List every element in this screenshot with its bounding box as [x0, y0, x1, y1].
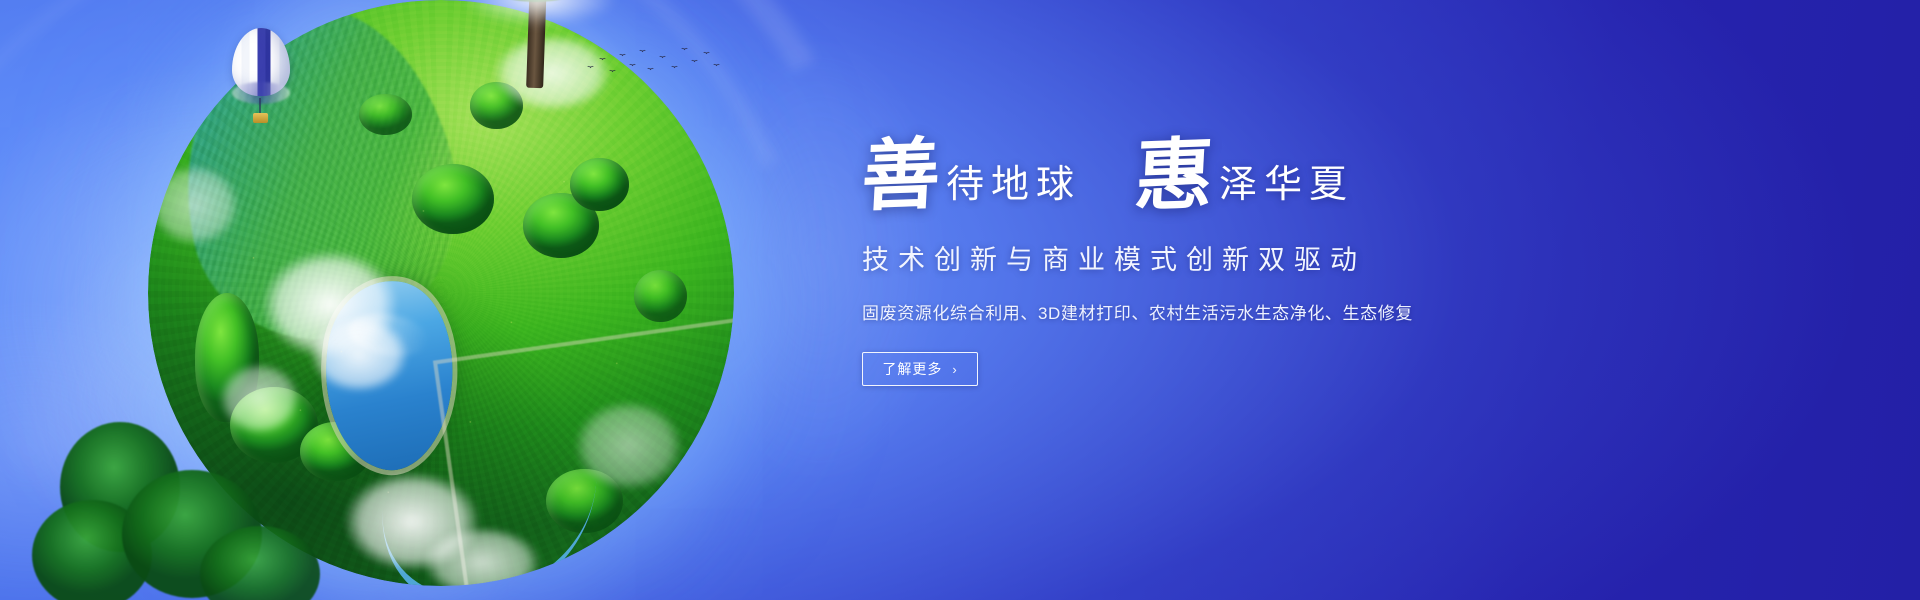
bird-icon [703, 52, 710, 56]
bird-icon [639, 50, 646, 54]
bird-icon [629, 64, 636, 68]
chevron-right-icon: › [952, 363, 957, 376]
headline-lead-char-2: 惠 [1133, 139, 1215, 213]
bird-icon [691, 60, 698, 64]
globe-cloud [207, 352, 312, 446]
headline-rest-1: 待地球 [946, 166, 1081, 212]
hot-air-balloon [232, 28, 290, 124]
bird-icon [659, 56, 666, 60]
tree-mist [434, 0, 644, 36]
hero-content: 善 待地球 惠 泽华夏 技术创新与商业模式创新双驱动 固废资源化综合利用、3D建… [862, 120, 1622, 386]
headline-lead-char-1: 善 [860, 139, 942, 213]
headline: 善 待地球 惠 泽华夏 [862, 120, 1622, 212]
headline-rest-2: 泽华夏 [1219, 166, 1354, 212]
bird-icon [587, 66, 594, 70]
learn-more-button[interactable]: 了解更多 › [862, 352, 978, 386]
hero-banner: 善 待地球 惠 泽华夏 技术创新与商业模式创新双驱动 固废资源化综合利用、3D建… [0, 0, 1920, 600]
bird-icon [671, 66, 678, 70]
globe-cloud [295, 305, 424, 405]
bird-flock [585, 40, 725, 90]
balloon-basket [253, 113, 268, 123]
globe-cloud [558, 387, 699, 504]
bird-icon [647, 68, 654, 72]
bird-icon [599, 58, 606, 62]
bird-icon [619, 54, 626, 58]
balloon-envelope [232, 28, 290, 96]
bird-icon [609, 70, 616, 74]
headline-group-2: 惠 泽华夏 [1135, 140, 1354, 212]
description: 固废资源化综合利用、3D建材打印、农村生活污水生态净化、生态修复 [862, 299, 1622, 324]
learn-more-label: 了解更多 [882, 359, 942, 379]
bird-icon [681, 48, 688, 52]
foliage-clump [32, 500, 152, 600]
balloon-rope [259, 98, 261, 114]
bird-icon [713, 64, 720, 68]
subtitle: 技术创新与商业模式创新双驱动 [862, 238, 1622, 277]
headline-group-1: 善 待地球 [862, 140, 1081, 212]
